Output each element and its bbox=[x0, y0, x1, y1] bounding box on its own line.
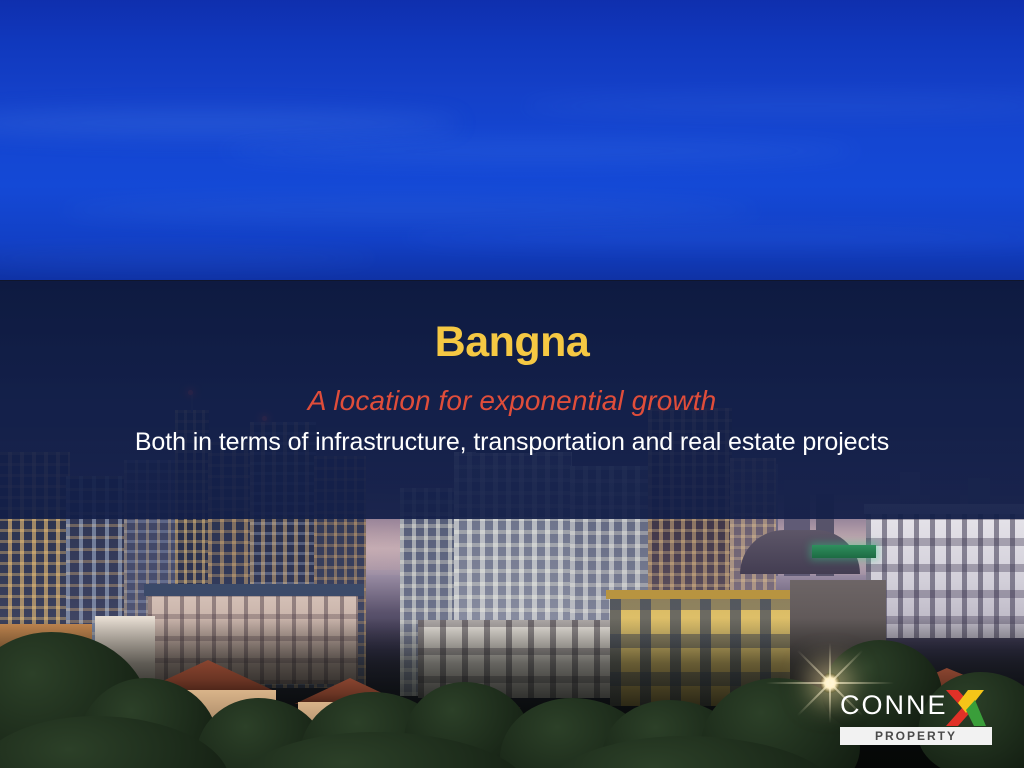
logo-wordmark: CONNE bbox=[840, 688, 948, 722]
slide-title: Bangna bbox=[0, 318, 1024, 367]
logo-subtext: PROPERTY bbox=[840, 727, 992, 745]
presentation-slide: Bangna A location for exponential growth… bbox=[0, 0, 1024, 768]
connex-x-icon bbox=[944, 686, 988, 730]
skytrain-carriage bbox=[812, 545, 876, 558]
connex-property-logo: CONNE PROPERTY bbox=[840, 688, 1000, 746]
shophouse-cornice bbox=[606, 590, 794, 599]
slide-tagline: Both in terms of infrastructure, transpo… bbox=[0, 428, 1024, 457]
sky-background bbox=[0, 0, 1024, 300]
slide-subtitle: A location for exponential growth bbox=[0, 385, 1024, 417]
midrise-roof-slab bbox=[144, 584, 364, 596]
